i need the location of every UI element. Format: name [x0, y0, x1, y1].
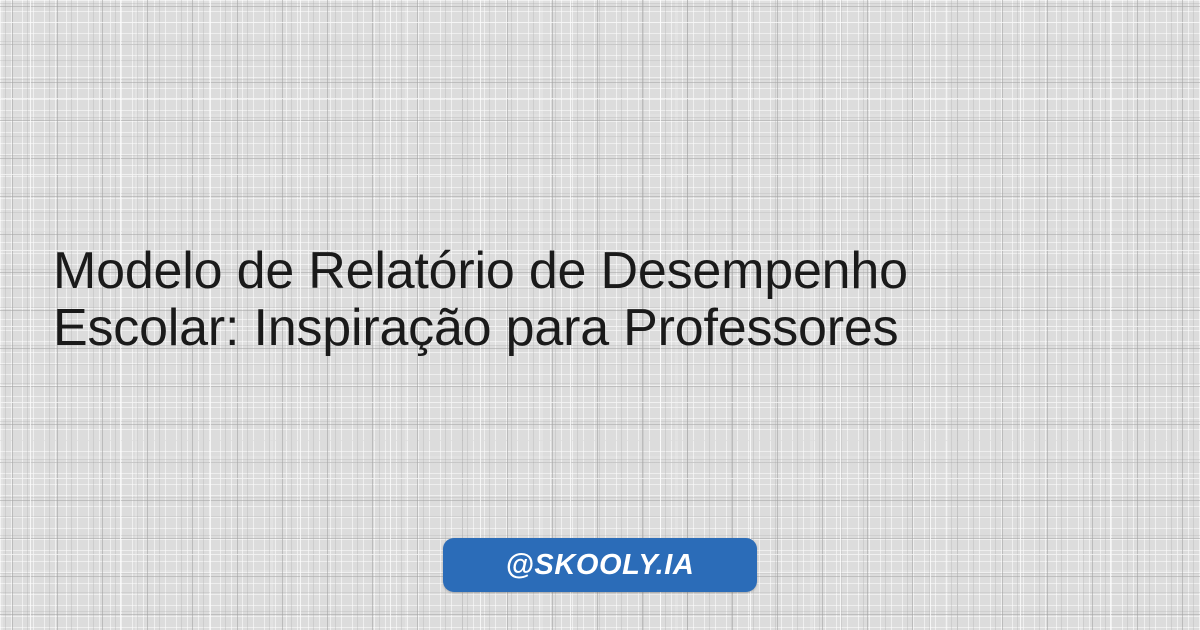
page-title-line-2: Escolar: Inspiração para Professores: [53, 300, 1153, 357]
page-title: Modelo de Relatório de Desempenho Escola…: [53, 243, 1153, 357]
handle-badge-label: @SKOOLY.IA: [506, 551, 695, 580]
handle-badge: @SKOOLY.IA: [443, 538, 757, 592]
page-title-line-1: Modelo de Relatório de Desempenho: [53, 243, 1153, 300]
social-share-card: Modelo de Relatório de Desempenho Escola…: [0, 0, 1200, 630]
